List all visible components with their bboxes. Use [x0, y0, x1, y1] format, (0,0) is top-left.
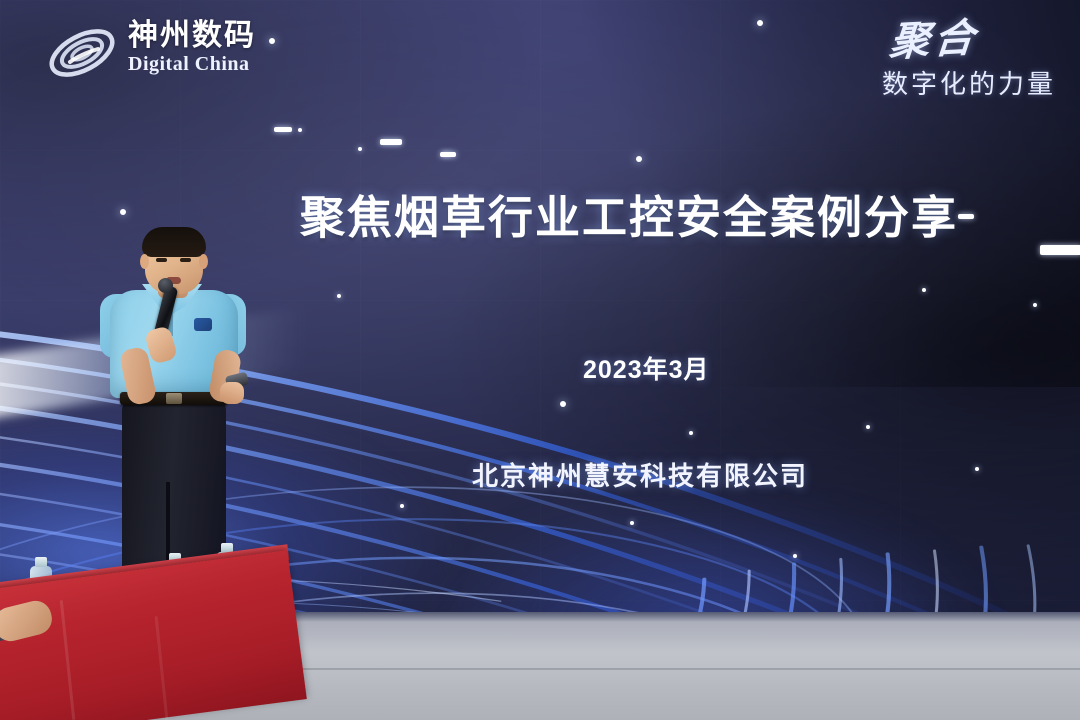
- light-dash: [440, 152, 456, 157]
- light-dot: [630, 521, 634, 525]
- light-dash: [380, 139, 402, 145]
- light-dot: [689, 431, 693, 435]
- speaker-eye-left: [156, 258, 167, 262]
- bottle-cap: [35, 557, 47, 567]
- light-dot: [120, 209, 126, 215]
- light-dot: [1033, 303, 1037, 307]
- brand-logo: 神州数码 Digital China: [44, 18, 294, 90]
- slide-title: 聚焦烟草行业工控安全案例分享: [300, 181, 1020, 246]
- speaker-chest-logo-icon: [194, 318, 212, 331]
- speaker-ear-right: [199, 254, 208, 269]
- slogan-brush-text: 聚合: [797, 18, 980, 67]
- light-dash: [274, 127, 292, 132]
- slide-company-name: 北京神州慧安科技有限公司: [472, 456, 808, 493]
- speaker-belt-buckle: [166, 393, 182, 404]
- light-dash: [1040, 245, 1080, 255]
- light-dot: [358, 147, 362, 151]
- speaker-ear-left: [140, 254, 149, 269]
- light-dot: [298, 128, 302, 132]
- light-dot: [757, 20, 763, 26]
- swirl-logo-icon: [44, 22, 120, 84]
- event-slogan: 聚合 数字化的力量: [800, 18, 1056, 110]
- screenshot-root: 神州数码 Digital China 聚合 数字化的力量 聚焦烟草行业工控安全案…: [0, 0, 1080, 720]
- speaker-hand-right: [220, 382, 244, 404]
- light-dot: [337, 294, 341, 298]
- stage-floor-shadow: [250, 612, 1080, 652]
- light-dot: [922, 288, 926, 292]
- light-dot: [793, 554, 797, 558]
- light-dot: [400, 504, 404, 508]
- slide-date: 2023年3月: [583, 350, 710, 386]
- brand-name-en: Digital China: [128, 52, 256, 76]
- light-dot: [975, 467, 979, 471]
- brand-name-cn: 神州数码: [128, 20, 256, 52]
- slogan-sub-text: 数字化的力量: [800, 64, 1056, 101]
- light-dot: [560, 401, 566, 407]
- brand-text-block: 神州数码 Digital China: [128, 20, 256, 76]
- speaker-eye-right: [180, 258, 191, 262]
- speaker-hair: [142, 227, 206, 257]
- light-dot: [636, 156, 642, 162]
- light-dot: [866, 425, 870, 429]
